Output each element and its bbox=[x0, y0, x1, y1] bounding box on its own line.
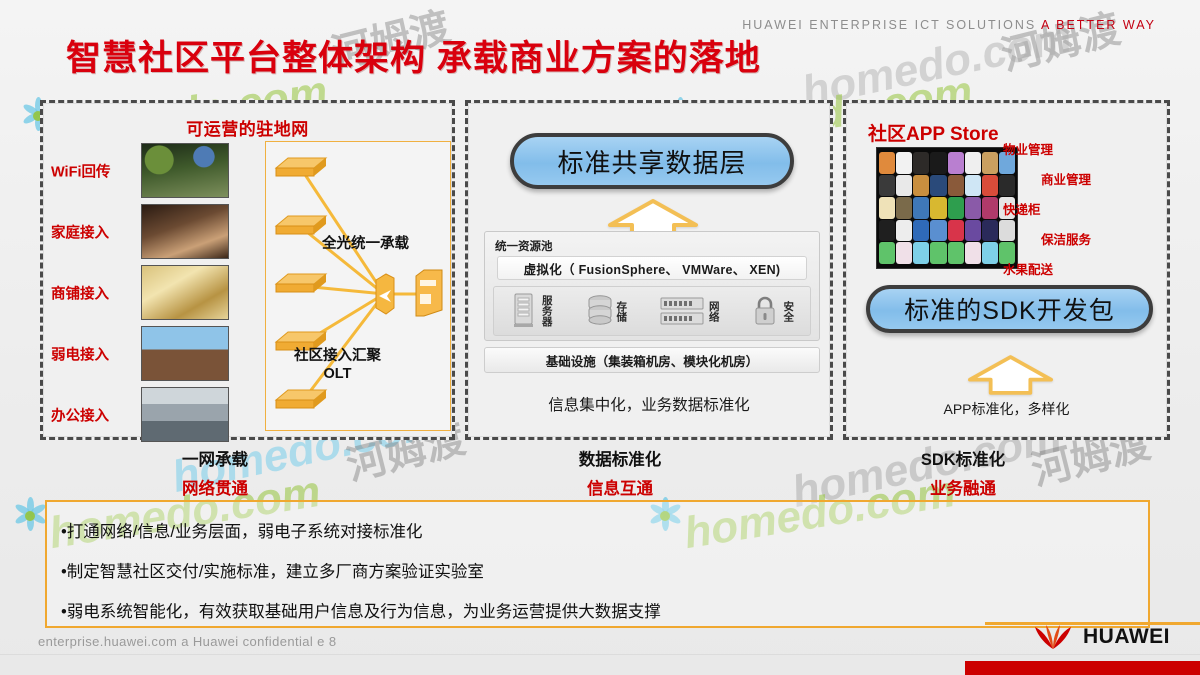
server-icon bbox=[511, 293, 537, 329]
access-label: 家庭接入 bbox=[51, 221, 109, 242]
access-type-list: WiFi回传 家庭接入 商铺接入 弱电接入 办公接入 bbox=[49, 141, 259, 446]
resource-server: 服务器 bbox=[511, 293, 552, 329]
caption-line2: 业务融通 bbox=[843, 475, 1083, 499]
security-caption: 安全 bbox=[782, 301, 793, 322]
app-store-screenshot bbox=[876, 147, 1018, 269]
panels-row: 可运营的驻地网 WiFi回传 家庭接入 商铺接入 弱电接入 bbox=[40, 100, 1170, 440]
huawei-logo: HUAWEI bbox=[1032, 624, 1170, 650]
caption-line1: 一网承载 bbox=[95, 446, 335, 470]
aggregation-label-line2: OLT bbox=[294, 365, 381, 383]
resource-network: 网络 bbox=[660, 293, 719, 329]
header-kicker-accent: A BETTER WAY bbox=[1041, 18, 1156, 32]
caption-line1: 数据标准化 bbox=[500, 446, 740, 470]
caption-sdk-standardization: SDK标准化 业务融通 bbox=[843, 446, 1083, 499]
service-item: 水果配送 bbox=[1003, 259, 1153, 278]
watermark-chinese: 河姆渡 bbox=[995, 0, 1125, 82]
access-thumbnail-office bbox=[141, 387, 229, 442]
footer-red-accent-bar bbox=[965, 661, 1200, 675]
footer-divider bbox=[0, 654, 1200, 655]
access-thumbnail-shop bbox=[141, 265, 229, 320]
access-thumbnail-wifi bbox=[141, 143, 229, 198]
infrastructure-bar: 基础设施（集装箱机房、模块化机房） bbox=[484, 347, 820, 373]
header-kicker-main: HUAWEI ENTERPRISE ICT SOLUTIONS bbox=[742, 18, 1041, 32]
sdk-package-pill: 标准的SDK开发包 bbox=[866, 285, 1153, 333]
service-item: 保洁服务 bbox=[1003, 229, 1153, 248]
huawei-wordmark: HUAWEI bbox=[1083, 625, 1170, 649]
app-store-title: 社区APP Store bbox=[868, 119, 999, 146]
panel-left-heading: 可运营的驻地网 bbox=[43, 115, 452, 140]
panel-data-layer: 标准共享数据层 统一资源池 虚拟化（ FusionSphere、 VMWare、… bbox=[465, 100, 833, 440]
server-caption: 服务器 bbox=[541, 295, 552, 327]
panel-right-footnote: APP标准化，多样化 bbox=[846, 399, 1167, 419]
panel-app-sdk: 社区APP Store 物业管理 商业管理 快递柜 保洁服务 水果配送 · · … bbox=[843, 100, 1170, 440]
access-thumbnail-lowvoltage bbox=[141, 326, 229, 381]
caption-line2: 网络贯通 bbox=[95, 475, 335, 499]
bullet-item: •打通网络/信息/业务层面，弱电子系统对接标准化 bbox=[61, 518, 422, 542]
topology-aggregation-label: 社区接入汇聚 OLT bbox=[294, 347, 381, 383]
resource-storage: 存储 bbox=[585, 293, 626, 329]
access-row: 办公接入 bbox=[49, 385, 259, 444]
caption-line2: 信息互通 bbox=[500, 475, 740, 499]
aggregation-node-icon bbox=[376, 274, 394, 314]
access-row: 商铺接入 bbox=[49, 263, 259, 322]
virtualization-bar: 虚拟化（ FusionSphere、 VMWare、 XEN) bbox=[497, 256, 807, 280]
standard-shared-data-layer-pill: 标准共享数据层 bbox=[510, 133, 794, 189]
footer-text: enterprise.huawei.com a Huawei confident… bbox=[38, 634, 336, 649]
access-row: 弱电接入 bbox=[49, 324, 259, 383]
caption-line1: SDK标准化 bbox=[843, 446, 1083, 470]
caption-data-standardization: 数据标准化 信息互通 bbox=[500, 446, 740, 499]
bullet-item: •弱电系统智能化，有效获取基础用户信息及行为信息，为业务运营提供大数据支撑 bbox=[61, 598, 661, 622]
unified-resource-pool: 统一资源池 虚拟化（ FusionSphere、 VMWare、 XEN) 服务… bbox=[484, 231, 820, 341]
topology-transport-label: 全光统一承载 bbox=[322, 232, 409, 253]
access-label: 商铺接入 bbox=[51, 282, 109, 303]
access-row: 家庭接入 bbox=[49, 202, 259, 261]
resource-security: 安全 bbox=[752, 293, 793, 329]
caption-one-network: 一网承载 网络贯通 bbox=[95, 446, 335, 499]
access-thumbnail-home bbox=[141, 204, 229, 259]
page-title: 智慧社区平台整体架构 承载商业方案的落地 bbox=[66, 30, 761, 81]
access-label: 弱电接入 bbox=[51, 343, 109, 364]
header-kicker: HUAWEI ENTERPRISE ICT SOLUTIONS A BETTER… bbox=[742, 18, 1156, 32]
storage-icon bbox=[585, 293, 611, 329]
bullet-item: •制定智慧社区交付/实施标准，建立多厂商方案验证实验室 bbox=[61, 558, 484, 582]
summary-bullet-box: •打通网络/信息/业务层面，弱电子系统对接标准化 •制定智慧社区交付/实施标准，… bbox=[45, 500, 1150, 628]
storage-caption: 存储 bbox=[615, 301, 626, 322]
huawei-flower-icon bbox=[1032, 624, 1074, 650]
network-icon bbox=[660, 293, 704, 329]
up-arrow-icon bbox=[968, 353, 1053, 395]
security-lock-icon bbox=[752, 293, 778, 329]
topology-svg bbox=[266, 142, 452, 432]
network-topology-diagram: 全光统一承载 社区接入汇聚 OLT bbox=[265, 141, 451, 431]
service-item: 物业管理 bbox=[1003, 139, 1153, 158]
access-row: WiFi回传 bbox=[49, 141, 259, 200]
panel-mid-footnote: 信息集中化，业务数据标准化 bbox=[468, 393, 830, 415]
service-item: 商业管理 bbox=[1003, 169, 1153, 188]
watermark-flower bbox=[10, 495, 50, 535]
infrastructure-icon-strip: 服务器 存储 网络 bbox=[493, 286, 811, 336]
resource-pool-title: 统一资源池 bbox=[495, 238, 553, 254]
access-label: 办公接入 bbox=[51, 404, 109, 425]
access-label: WiFi回传 bbox=[51, 160, 110, 181]
slide-canvas: homedo.com 河姆渡 河姆渡 homedo.com homedo.com… bbox=[0, 0, 1200, 675]
service-item: 快递柜 bbox=[1003, 199, 1153, 218]
panel-premises-network: 可运营的驻地网 WiFi回传 家庭接入 商铺接入 弱电接入 bbox=[40, 100, 455, 440]
network-caption: 网络 bbox=[708, 301, 719, 322]
aggregation-label-line1: 社区接入汇聚 bbox=[294, 347, 381, 365]
olt-device-icon bbox=[416, 270, 442, 316]
